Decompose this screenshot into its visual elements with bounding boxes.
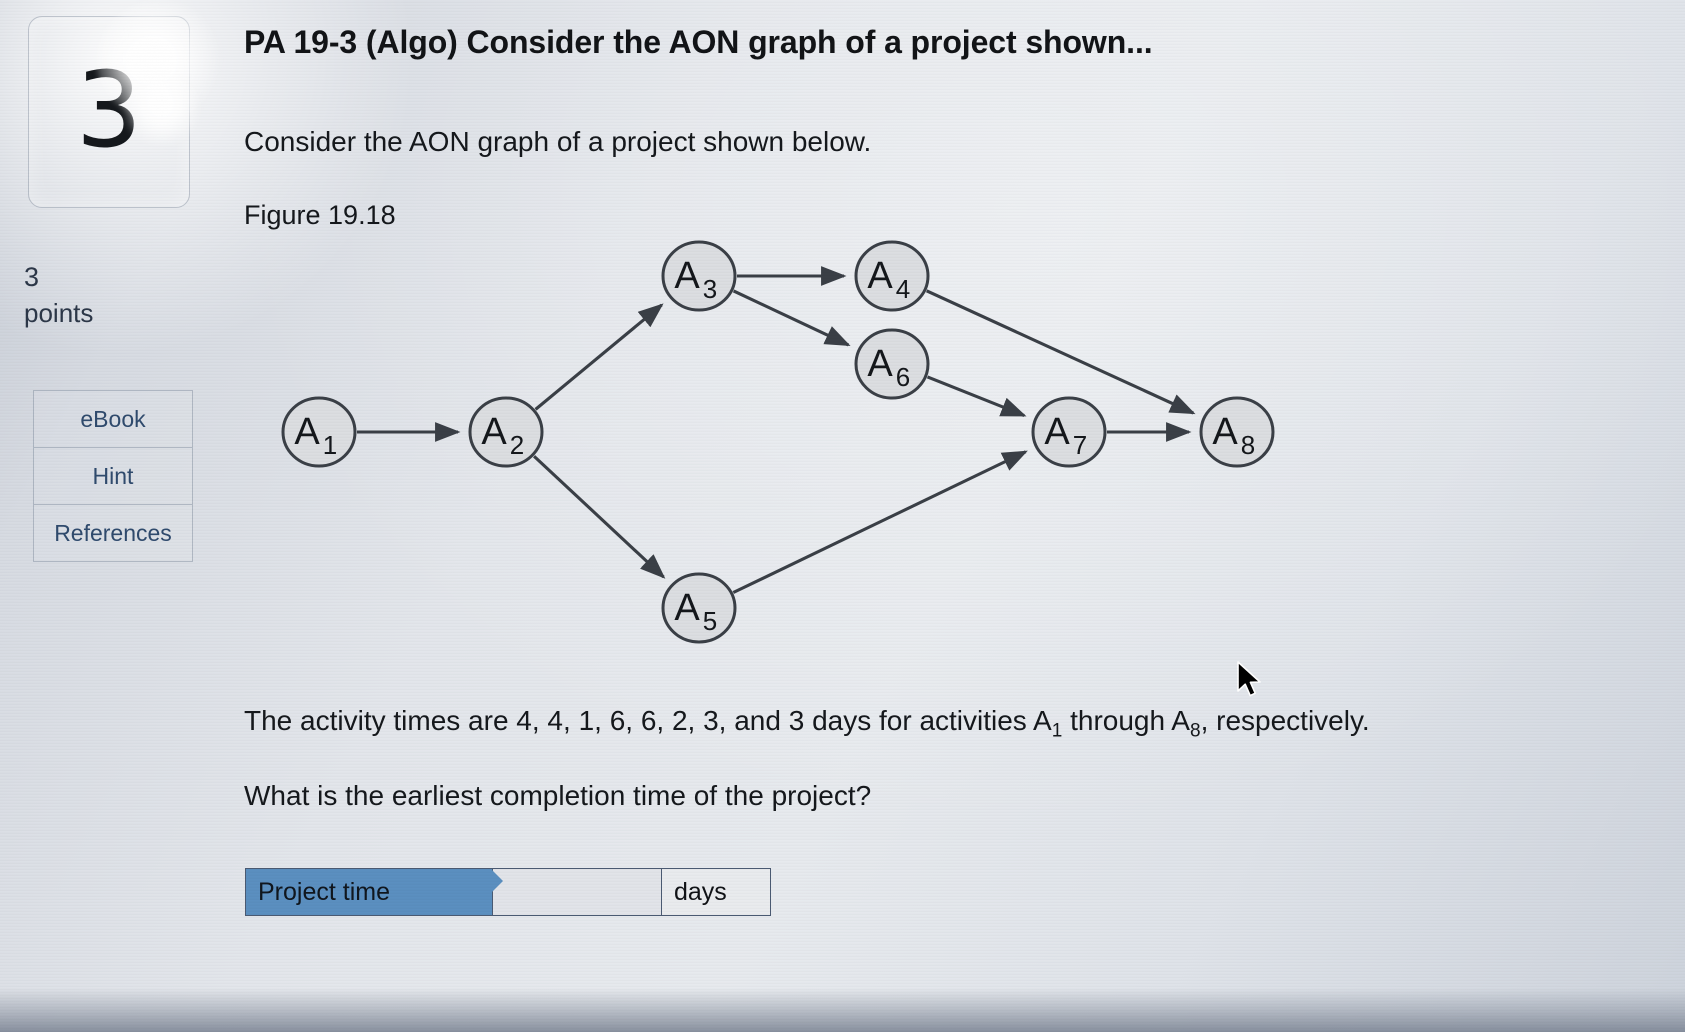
points-value: 3	[24, 262, 39, 293]
aon-node-label: A	[867, 343, 893, 385]
question-sidebar: 3 3 points eBook Hint References	[0, 0, 232, 1032]
activity-times-sub-8: 8	[1190, 721, 1201, 742]
aon-node-layer: A1A2A3A4A5A6A7A8	[283, 242, 1273, 642]
aon-node-label: A	[481, 411, 507, 453]
aon-node-subscript: 1	[323, 430, 337, 460]
aon-node-subscript: 2	[510, 430, 524, 460]
aon-node-label: A	[867, 255, 893, 297]
question-prompt: What is the earliest completion time of …	[244, 780, 871, 812]
project-time-unit: days	[662, 869, 771, 916]
question-number-box: 3	[28, 16, 190, 208]
aon-node-a5: A5	[663, 574, 735, 642]
aon-node-label: A	[294, 411, 320, 453]
page-title: PA 19-3 (Algo) Consider the AON graph of…	[244, 24, 1153, 61]
points-label: points	[24, 298, 93, 329]
activity-times-mid: through A	[1062, 705, 1190, 736]
aon-edge-a6-to-a7	[927, 377, 1024, 416]
question-main-panel: PA 19-3 (Algo) Consider the AON graph of…	[232, 0, 1685, 1032]
aon-edge-a2-to-a5	[534, 456, 663, 577]
activity-times-sub-1: 1	[1052, 721, 1063, 742]
ebook-button[interactable]: eBook	[34, 391, 192, 448]
aon-node-a2: A2	[470, 398, 542, 466]
aon-edge-a3-to-a6	[734, 291, 849, 345]
aon-node-a8: A8	[1201, 398, 1273, 466]
aon-node-subscript: 5	[703, 606, 717, 636]
resource-link-stack: eBook Hint References	[33, 390, 193, 562]
intro-text: Consider the AON graph of a project show…	[244, 126, 871, 158]
answer-table: Project time days	[245, 868, 771, 916]
hint-button[interactable]: Hint	[34, 448, 192, 505]
references-button[interactable]: References	[34, 505, 192, 561]
aon-node-a7: A7	[1033, 398, 1105, 466]
project-time-input[interactable]	[493, 870, 661, 914]
activity-times-suffix: , respectively.	[1201, 705, 1370, 736]
aon-graph: A1A2A3A4A5A6A7A8	[244, 232, 1424, 672]
aon-node-subscript: 8	[1241, 430, 1255, 460]
project-time-label: Project time	[246, 869, 493, 916]
aon-edge-a2-to-a3	[536, 305, 662, 409]
aon-node-a3: A3	[663, 242, 735, 310]
aon-node-label: A	[674, 587, 700, 629]
aon-node-label: A	[1212, 411, 1238, 453]
aon-node-label: A	[674, 255, 700, 297]
aon-node-subscript: 7	[1073, 430, 1087, 460]
aon-node-a1: A1	[283, 398, 355, 466]
aon-edge-a5-to-a7	[733, 452, 1025, 593]
question-number: 3	[29, 35, 189, 185]
project-time-input-cell[interactable]	[493, 869, 662, 916]
aon-node-label: A	[1044, 411, 1070, 453]
figure-label: Figure 19.18	[244, 200, 396, 231]
screenshot-root: 3 3 points eBook Hint References PA 19-3…	[0, 0, 1685, 1032]
aon-node-subscript: 6	[896, 362, 910, 392]
aon-edge-a4-to-a8	[927, 291, 1194, 413]
aon-node-subscript: 4	[896, 274, 910, 304]
table-row: Project time days	[246, 869, 771, 916]
aon-node-a6: A6	[856, 330, 928, 398]
aon-node-subscript: 3	[703, 274, 717, 304]
aon-node-a4: A4	[856, 242, 928, 310]
activity-times-text: The activity times are 4, 4, 1, 6, 6, 2,…	[244, 705, 1370, 743]
activity-times-prefix: The activity times are 4, 4, 1, 6, 6, 2,…	[244, 705, 1052, 736]
